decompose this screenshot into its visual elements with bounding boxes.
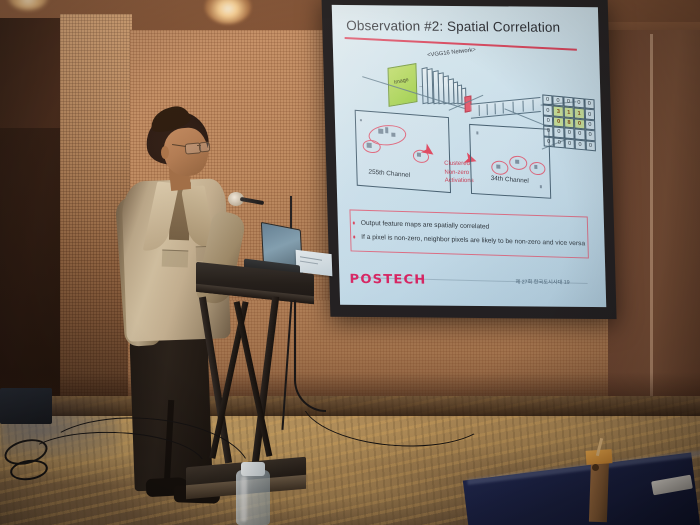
activation-dot: [540, 185, 542, 188]
bullet-item: If a pixel is non-zero, neighbor pixels …: [361, 234, 585, 248]
bullet-marker-icon: [353, 236, 355, 238]
slide-bullet-box: Output feature maps are spatially correl…: [349, 209, 588, 258]
presenter-glasses-bridge: [197, 145, 201, 146]
activation-dot: [476, 131, 478, 134]
podium-cable-drop: [294, 300, 326, 412]
matrix-cell: 0: [554, 137, 565, 148]
activation-dot: [378, 129, 383, 134]
activation-dot: [391, 133, 395, 137]
slide-diagram: <VGG16 Network> Image →: [343, 47, 598, 209]
annotation-line-2: Non-zero: [444, 168, 473, 177]
slide: Observation #2: Spatial Correlation <VGG…: [332, 5, 607, 307]
presentation-photo-scene: Observation #2: Spatial Correlation <VGG…: [0, 0, 700, 525]
activation-dot: [515, 160, 519, 164]
floor-monitor: [0, 388, 52, 424]
activation-dot: [367, 143, 372, 148]
activation-dot: [360, 119, 362, 121]
wall-right-seam: [650, 34, 653, 409]
annotation-line-3: Activations: [445, 177, 474, 186]
vgg16-network-label: <VGG16 Network>: [427, 47, 476, 59]
matrix-cell: 0: [543, 136, 554, 147]
water-bottle-cap: [241, 462, 265, 476]
water-bottle-highlight: [241, 476, 247, 522]
projection-screen[interactable]: Observation #2: Spatial Correlation <VGG…: [332, 5, 607, 307]
activation-dot: [496, 164, 500, 168]
matrix-cell: 0: [575, 139, 586, 150]
bullet-marker-icon: [353, 222, 355, 224]
bullet-text: If a pixel is non-zero, neighbor pixels …: [361, 234, 585, 248]
postech-logo: POSTECH: [349, 271, 426, 287]
slide-title: Observation #2: Spatial Correlation: [346, 18, 560, 35]
conference-footer-text: 제 27회 한국도시사대 19: [515, 278, 569, 285]
wall-left-dark-lower: [0, 128, 62, 410]
matrix-cell: 0: [585, 140, 596, 151]
annotation-line-1: Clustered: [444, 160, 473, 169]
matrix-cell: 0: [564, 138, 575, 149]
bullet-item: Output feature maps are spatially correl…: [361, 220, 490, 231]
channel-255-box: [355, 110, 451, 193]
activation-dot: [385, 127, 388, 133]
presenter-ear: [161, 146, 169, 159]
presenter-jacket-pocket-left: [162, 250, 189, 268]
activation-value-matrix: 0 0 0 0 0 0 3 1 1 0 0 0 8 0 0 0 0: [542, 94, 596, 151]
wooden-post-knob: [592, 464, 599, 471]
channel-34-box: [469, 124, 551, 199]
presenter-glasses-right-lens: [199, 142, 211, 153]
bullet-text: Output feature maps are spatially correl…: [361, 220, 490, 231]
activation-dot: [534, 165, 537, 169]
